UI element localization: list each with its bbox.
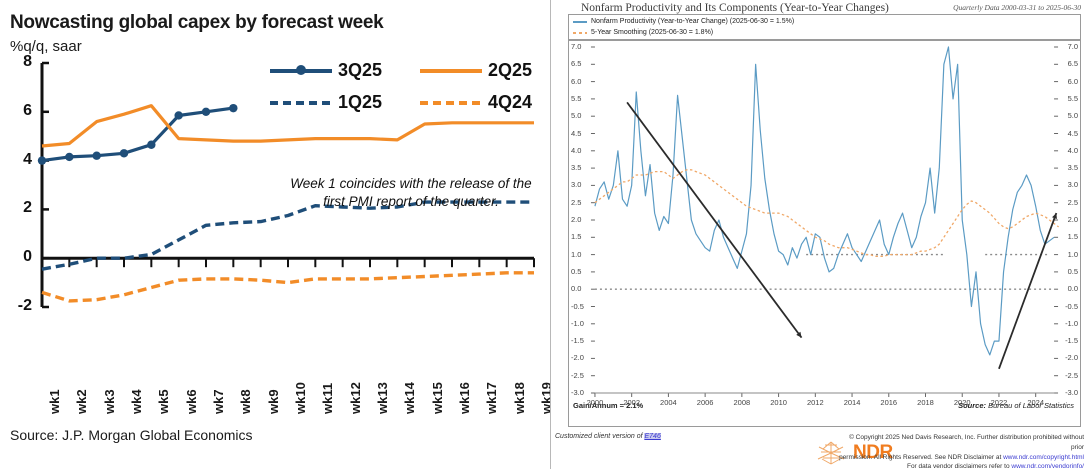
ndr-x-tick-label: 2006	[697, 398, 714, 407]
ndr-y-tick-label: -0.5	[1065, 302, 1078, 311]
ndr-x-tick-label: 2004	[660, 398, 677, 407]
ndr-y-tick-label: 1.5	[1068, 232, 1078, 241]
ndr-y-tick-label: 4.5	[571, 129, 581, 138]
x-tick-label: wk10	[293, 382, 308, 414]
ndr-y-tick-label: 3.0	[1068, 180, 1078, 189]
ndr-source-note: Source: Bureau of Labor Statistics	[958, 401, 1074, 410]
x-tick-label: wk15	[430, 382, 445, 414]
ndr-copyright: © Copyright 2025 Ned Davis Research, Inc…	[836, 433, 1084, 469]
ndr-y-tick-label: 0.5	[571, 267, 581, 276]
ndr-y-tick-label: 0.5	[1068, 267, 1078, 276]
ndr-legend-item-smoothing: 5-Year Smoothing (2025-06-30 = 1.8%)	[573, 29, 713, 36]
ndr-y-tick-label: -2.5	[1065, 371, 1078, 380]
ndr-y-tick-label: 3.5	[1068, 163, 1078, 172]
ndr-chart-code-link[interactable]: E746	[644, 433, 660, 440]
ndr-y-tick-label: -1.0	[1065, 319, 1078, 328]
ndr-y-tick-label: 6.5	[1068, 59, 1078, 68]
legend-label-3q25: 3Q25	[338, 60, 382, 81]
legend-item-2q25: 2Q25	[420, 60, 532, 81]
legend-label-1q25: 1Q25	[338, 92, 382, 113]
copyright-line-2: permission. All Rights Reserved. See NDR…	[836, 453, 1084, 463]
ndr-y-tick-label: 1.0	[571, 250, 581, 259]
y-tick-label: 8	[6, 53, 32, 71]
x-tick-label: wk12	[348, 382, 363, 414]
copyright-line-2-text: permission. All Rights Reserved. See NDR…	[839, 454, 1003, 461]
ndr-x-tick-label: 2020	[954, 398, 971, 407]
ndr-plot-svg	[569, 41, 1080, 426]
copyright-line-3: For data vendor disclaimers refer to www…	[836, 462, 1084, 469]
ndr-y-tick-label: -1.5	[1065, 336, 1078, 345]
page-title: Nowcasting global capex by forecast week	[10, 12, 383, 34]
ndr-y-tick-label: 7.0	[1068, 42, 1078, 51]
y-tick-label: 2	[6, 199, 32, 217]
ndr-x-tick-label: 2016	[880, 398, 897, 407]
copyright-line-3-text: For data vendor disclaimers refer to	[907, 463, 1011, 469]
ndr-x-tick-label: 2012	[807, 398, 824, 407]
ndr-y-tick-label: 5.5	[571, 94, 581, 103]
jpm-source-note: Source: J.P. Morgan Global Economics	[10, 427, 253, 443]
ndr-footer: Customized client version of E746 NDR © …	[551, 429, 1087, 469]
legend-label-2q25: 2Q25	[488, 60, 532, 81]
ndr-y-tick-label: 2.5	[571, 198, 581, 207]
ndr-copyright-link[interactable]: www.ndr.com/copyright.html	[1003, 454, 1084, 461]
ndr-y-tick-label: 2.5	[1068, 198, 1078, 207]
ndr-y-tick-label: 4.0	[1068, 146, 1078, 155]
x-tick-label: wk16	[457, 382, 472, 414]
x-tick-label: wk17	[484, 382, 499, 414]
ndr-legend-label-smoothing: 5-Year Smoothing (2025-06-30 = 1.8%)	[591, 29, 713, 36]
ndr-legend-swatch-productivity	[573, 21, 587, 23]
ndr-legend-item-productivity: Nonfarm Productivity (Year-to-Year Chang…	[573, 18, 794, 25]
ndr-y-tick-label: 1.5	[571, 232, 581, 241]
x-tick-label: wk7	[211, 389, 226, 414]
ndr-y-tick-label: 1.0	[1068, 250, 1078, 259]
ndr-y-tick-label: 0.0	[571, 284, 581, 293]
x-tick-label: wk6	[184, 389, 199, 414]
ndr-y-tick-label: -1.0	[571, 319, 584, 328]
ndr-y-tick-label: 5.0	[1068, 111, 1078, 120]
x-tick-label: wk11	[320, 383, 335, 414]
ndr-chart-title: Nonfarm Productivity and Its Components …	[581, 2, 889, 14]
ndr-y-tick-label: -3.0	[571, 388, 584, 397]
y-tick-label: -2	[6, 297, 32, 315]
x-tick-label: wk4	[129, 389, 144, 414]
ndr-y-tick-label: 2.0	[1068, 215, 1078, 224]
ndr-y-tick-label: 6.0	[571, 77, 581, 86]
ndr-x-tick-label: 2018	[917, 398, 934, 407]
legend-swatch-1q25	[270, 96, 332, 110]
ndr-x-tick-label: 2014	[844, 398, 861, 407]
ndr-y-tick-label: 6.0	[1068, 77, 1078, 86]
ndr-x-tick-label: 2002	[623, 398, 640, 407]
ndr-y-tick-label: -2.5	[571, 371, 584, 380]
x-tick-label: wk13	[375, 382, 390, 414]
ndr-y-tick-label: 0.0	[1068, 284, 1078, 293]
ndr-x-tick-label: 2010	[770, 398, 787, 407]
jpm-x-axis-labels: wk1wk2wk3wk4wk5wk6wk7wk8wk9wk10wk11wk12w…	[0, 362, 550, 420]
x-tick-label: wk1	[47, 389, 62, 414]
ndr-customized-note: Customized client version of E746	[555, 433, 661, 440]
y-tick-label: 6	[6, 102, 32, 120]
ndr-y-tick-label: -2.0	[571, 353, 584, 362]
legend-swatch-3q25	[270, 64, 332, 78]
x-tick-label: wk2	[74, 389, 89, 414]
ndr-y-tick-label: 7.0	[571, 42, 581, 51]
ndr-x-tick-label: 2008	[734, 398, 751, 407]
ndr-vendorinfo-link[interactable]: www.ndr.com/vendorinfo/	[1011, 463, 1084, 469]
y-tick-label: 4	[6, 151, 32, 169]
legend-swatch-2q25	[420, 64, 482, 78]
legend-item-4q24: 4Q24	[420, 92, 532, 113]
ndr-customized-prefix: Customized client version of	[555, 433, 644, 440]
jpm-capex-chart-panel: Nowcasting global capex by forecast week…	[0, 0, 550, 469]
ndr-y-tick-label: 6.5	[571, 59, 581, 68]
copyright-line-1: © Copyright 2025 Ned Davis Research, Inc…	[836, 433, 1084, 453]
ndr-y-tick-label: 5.0	[571, 111, 581, 120]
chart-annotation: Week 1 coincides with the release of the…	[286, 175, 536, 211]
ndr-legend-swatch-smoothing	[573, 32, 587, 34]
x-tick-label: wk18	[512, 382, 527, 414]
ndr-y-tick-label: -0.5	[571, 302, 584, 311]
ndr-x-tick-label: 2022	[991, 398, 1008, 407]
legend-label-4q24: 4Q24	[488, 92, 532, 113]
ndr-y-tick-label: 5.5	[1068, 94, 1078, 103]
ndr-y-tick-label: -1.5	[571, 336, 584, 345]
ndr-y-tick-label: 3.5	[571, 163, 581, 172]
ndr-y-tick-label: 3.0	[571, 180, 581, 189]
ndr-y-tick-label: -2.0	[1065, 353, 1078, 362]
y-tick-label: 0	[6, 248, 32, 266]
x-tick-label: wk8	[238, 389, 253, 414]
x-tick-label: wk14	[402, 382, 417, 414]
ndr-date-range: Quarterly Data 2000-03-31 to 2025-06-30	[953, 3, 1081, 12]
ndr-productivity-chart-panel: Nonfarm Productivity and Its Components …	[550, 0, 1087, 469]
ndr-plot-area: Gain/Annum = 2.1% Source: Bureau of Labo…	[568, 40, 1081, 427]
ndr-y-tick-label: 2.0	[571, 215, 581, 224]
ndr-y-tick-label: 4.5	[1068, 129, 1078, 138]
ndr-x-tick-label: 2000	[587, 398, 604, 407]
screenshot-root: Nowcasting global capex by forecast week…	[0, 0, 1087, 469]
legend-item-3q25: 3Q25	[270, 60, 382, 81]
legend-item-1q25: 1Q25	[270, 92, 382, 113]
jpm-legend: 3Q25 2Q25 1Q25 4Q24	[270, 60, 545, 122]
x-tick-label: wk5	[156, 389, 171, 414]
ndr-y-tick-label: -3.0	[1065, 388, 1078, 397]
x-tick-label: wk9	[266, 389, 281, 414]
ndr-x-tick-label: 2024	[1027, 398, 1044, 407]
legend-swatch-4q24	[420, 96, 482, 110]
ndr-y-tick-label: 4.0	[571, 146, 581, 155]
x-tick-label: wk3	[102, 389, 117, 414]
ndr-legend-label-productivity: Nonfarm Productivity (Year-to-Year Chang…	[591, 18, 794, 25]
ndr-legend: Nonfarm Productivity (Year-to-Year Chang…	[568, 14, 1081, 40]
